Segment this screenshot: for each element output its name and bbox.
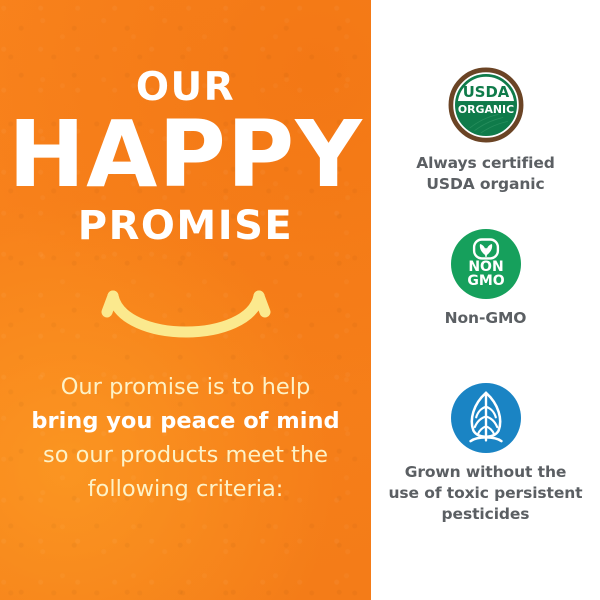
promise-line-2-emphasis: bring you peace of mind (0, 404, 371, 438)
usda-seal-mark: USDA ORGANIC (371, 66, 600, 144)
smile-arc-container (0, 286, 371, 348)
smile-arc-icon (101, 286, 271, 348)
usda-caption-line-1: Always certified (371, 153, 600, 174)
headline-line-happy: HAPPY (0, 111, 371, 198)
orange-panel: OUR HAPPY PROMISE Our promise is to help… (0, 0, 371, 600)
badge-caption-non-gmo: Non-GMO (371, 308, 600, 329)
non-gmo-seal-mark: NON GMO (371, 229, 600, 299)
promise-line-3: so our products meet the (0, 438, 371, 472)
usda-organic-seal-icon: USDA ORGANIC (447, 66, 525, 144)
badge-item-pesticide-free: Grown without the use of toxic persisten… (371, 383, 600, 525)
usda-caption-line-2: USDA organic (371, 174, 600, 195)
pesticide-seal-mark (371, 383, 600, 453)
pesticide-caption-line-1: Grown without the (371, 462, 600, 483)
badge-item-non-gmo: NON GMO Non-GMO (371, 229, 600, 329)
badge-item-usda-organic: USDA ORGANIC Always certified USDA organ… (371, 66, 600, 195)
badge-caption-usda-organic: Always certified USDA organic (371, 153, 600, 195)
pesticide-caption-line-2: use of toxic persistent (371, 483, 600, 504)
usda-seal-text-bottom: ORGANIC (457, 103, 513, 116)
promise-paragraph: Our promise is to help bring you peace o… (0, 370, 371, 506)
promise-line-4: following criteria: (0, 472, 371, 506)
badge-caption-pesticide-free: Grown without the use of toxic persisten… (371, 462, 600, 525)
pesticide-caption-line-3: pesticides (371, 504, 600, 525)
non-gmo-seal-text-bottom: GMO (467, 273, 504, 289)
headline-block: OUR HAPPY PROMISE (0, 68, 371, 246)
non-gmo-caption-line-1: Non-GMO (371, 308, 600, 329)
certification-badge-column: USDA ORGANIC Always certified USDA organ… (371, 0, 600, 600)
promise-line-1: Our promise is to help (0, 370, 371, 404)
usda-seal-text-top: USDA (462, 84, 509, 101)
blue-leaf-badge-icon (451, 383, 521, 453)
non-gmo-project-badge-icon: NON GMO (451, 229, 521, 299)
headline-line-promise: PROMISE (0, 206, 371, 246)
happy-promise-poster: OUR HAPPY PROMISE Our promise is to help… (0, 0, 600, 600)
